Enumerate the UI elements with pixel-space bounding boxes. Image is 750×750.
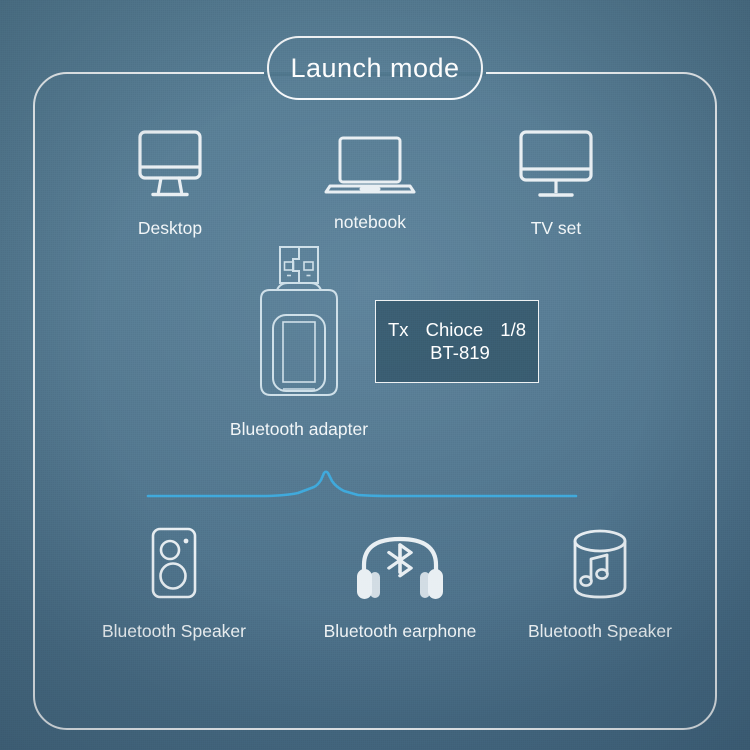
output-device-label: Bluetooth Speaker	[102, 621, 246, 642]
page-title: Launch mode	[290, 53, 459, 84]
product-infographic: Launch mode Desktop notebook	[0, 0, 750, 750]
bluetooth-adapter-label: Bluetooth adapter	[230, 419, 368, 440]
bluetooth-adapter-block: Bluetooth adapter	[225, 243, 373, 440]
box-speaker-icon	[145, 525, 203, 603]
tv-icon	[515, 128, 597, 202]
launch-mode-title-pill: Launch mode	[267, 36, 483, 100]
signal-wave-line	[146, 466, 578, 508]
desktop-monitor-icon	[134, 128, 206, 202]
source-device-tv: TV set	[490, 128, 622, 239]
cylinder-speaker-icon	[567, 525, 633, 603]
output-device-earphone: Bluetooth earphone	[310, 525, 490, 642]
output-device-label: Bluetooth Speaker	[528, 621, 672, 642]
bluetooth-headphones-icon	[350, 525, 450, 603]
display-line-1: Tx Chioce 1/8	[388, 319, 526, 342]
output-device-speaker-right: Bluetooth Speaker	[520, 525, 680, 642]
source-device-desktop: Desktop	[104, 128, 236, 239]
laptop-icon	[322, 128, 418, 202]
display-device-name: BT-819	[388, 342, 526, 365]
usb-bluetooth-adapter-icon	[247, 243, 351, 401]
source-device-label: TV set	[531, 218, 582, 239]
display-page-indicator: 1/8	[500, 319, 526, 342]
source-device-notebook: notebook	[304, 128, 436, 233]
output-device-speaker-left: Bluetooth Speaker	[100, 525, 248, 642]
display-menu: Chioce	[420, 319, 490, 342]
display-mode: Tx	[388, 319, 409, 342]
adapter-display-panel: Tx Chioce 1/8 BT-819	[375, 300, 539, 383]
source-device-label: Desktop	[138, 218, 202, 239]
output-device-label: Bluetooth earphone	[324, 621, 477, 642]
source-device-label: notebook	[334, 212, 406, 233]
